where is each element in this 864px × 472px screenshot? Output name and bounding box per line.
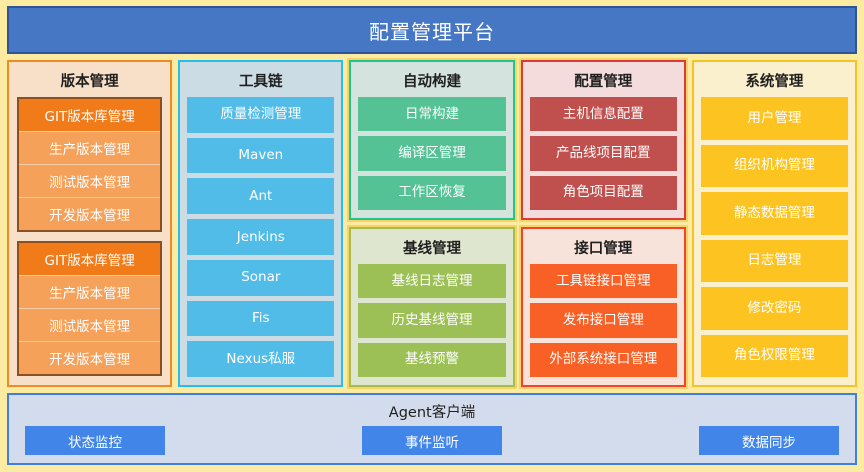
baseline-item-alert[interactable]: 基线预警 bbox=[358, 343, 505, 377]
panel-title-config-management: 配置管理 bbox=[530, 67, 677, 97]
baseline-item-log[interactable]: 基线日志管理 bbox=[358, 264, 505, 298]
version-item-git-repo-2[interactable]: GIT版本库管理 bbox=[19, 243, 160, 276]
platform-title-bar: 配置管理平台 bbox=[7, 6, 857, 54]
version-item-development-2[interactable]: 开发版本管理 bbox=[19, 342, 160, 374]
column-system-management: 系统管理 用户管理 组织机构管理 静态数据管理 日志管理 修改密码 角色权限管理 bbox=[692, 60, 857, 387]
config-item-role-project[interactable]: 角色项目配置 bbox=[530, 176, 677, 210]
page-title: 配置管理平台 bbox=[369, 16, 495, 45]
panel-title-baseline-management: 基线管理 bbox=[358, 234, 505, 264]
agent-button-event-listener[interactable]: 事件监听 bbox=[362, 426, 502, 455]
panel-auto-build: 自动构建 日常构建 编译区管理 工作区恢复 bbox=[349, 60, 514, 220]
column-config-interface: 配置管理 主机信息配置 产品线项目配置 角色项目配置 接口管理 工具链接口管理 … bbox=[521, 60, 686, 387]
panel-interface-management: 接口管理 工具链接口管理 发布接口管理 外部系统接口管理 bbox=[521, 227, 686, 387]
panel-baseline-management: 基线管理 基线日志管理 历史基线管理 基线预警 bbox=[349, 227, 514, 387]
build-item-daily-build[interactable]: 日常构建 bbox=[358, 97, 505, 131]
toolchain-item-sonar[interactable]: Sonar bbox=[187, 260, 334, 296]
panel-title-toolchain: 工具链 bbox=[187, 67, 334, 97]
agent-button-status-monitor[interactable]: 状态监控 bbox=[25, 426, 165, 455]
agent-button-data-sync[interactable]: 数据同步 bbox=[699, 426, 839, 455]
version-item-test-2[interactable]: 测试版本管理 bbox=[19, 309, 160, 342]
panel-title-version-management: 版本管理 bbox=[17, 67, 162, 97]
system-item-static-data-management[interactable]: 静态数据管理 bbox=[701, 192, 848, 235]
interface-item-external-system[interactable]: 外部系统接口管理 bbox=[530, 343, 677, 377]
toolchain-item-nexus[interactable]: Nexus私服 bbox=[187, 341, 334, 377]
toolchain-item-jenkins[interactable]: Jenkins bbox=[187, 219, 334, 255]
panel-title-system-management: 系统管理 bbox=[701, 67, 848, 97]
panel-config-management: 配置管理 主机信息配置 产品线项目配置 角色项目配置 bbox=[521, 60, 686, 220]
config-item-host-info[interactable]: 主机信息配置 bbox=[530, 97, 677, 131]
interface-item-toolchain[interactable]: 工具链接口管理 bbox=[530, 264, 677, 298]
column-toolchain: 工具链 质量检测管理 Maven Ant Jenkins Sonar Fis N… bbox=[178, 60, 343, 387]
system-item-role-permission-management[interactable]: 角色权限管理 bbox=[701, 335, 848, 378]
interface-item-release[interactable]: 发布接口管理 bbox=[530, 303, 677, 337]
version-group-2: GIT版本库管理 生产版本管理 测试版本管理 开发版本管理 bbox=[17, 241, 162, 376]
version-item-development-1[interactable]: 开发版本管理 bbox=[19, 198, 160, 230]
toolchain-item-quality-inspection[interactable]: 质量检测管理 bbox=[187, 97, 334, 133]
build-item-workspace-restore[interactable]: 工作区恢复 bbox=[358, 176, 505, 210]
column-version-management: 版本管理 GIT版本库管理 生产版本管理 测试版本管理 开发版本管理 GIT版本… bbox=[7, 60, 172, 387]
toolchain-item-fis[interactable]: Fis bbox=[187, 301, 334, 337]
version-item-git-repo-1[interactable]: GIT版本库管理 bbox=[19, 99, 160, 132]
baseline-item-history[interactable]: 历史基线管理 bbox=[358, 303, 505, 337]
agent-client-buttons: 状态监控 事件监听 数据同步 bbox=[17, 426, 847, 455]
version-item-production-1[interactable]: 生产版本管理 bbox=[19, 132, 160, 165]
platform-architecture-diagram: 配置管理平台 版本管理 GIT版本库管理 生产版本管理 测试版本管理 开发版本管… bbox=[0, 0, 864, 472]
version-item-production-2[interactable]: 生产版本管理 bbox=[19, 276, 160, 309]
config-item-product-line-project[interactable]: 产品线项目配置 bbox=[530, 136, 677, 170]
panel-title-interface-management: 接口管理 bbox=[530, 234, 677, 264]
system-item-log-management[interactable]: 日志管理 bbox=[701, 240, 848, 283]
agent-client-bar: Agent客户端 状态监控 事件监听 数据同步 bbox=[7, 393, 857, 465]
system-item-organization-management[interactable]: 组织机构管理 bbox=[701, 145, 848, 188]
system-item-user-management[interactable]: 用户管理 bbox=[701, 97, 848, 140]
system-item-change-password[interactable]: 修改密码 bbox=[701, 287, 848, 330]
panel-version-management: 版本管理 GIT版本库管理 生产版本管理 测试版本管理 开发版本管理 GIT版本… bbox=[7, 60, 172, 387]
module-columns: 版本管理 GIT版本库管理 生产版本管理 测试版本管理 开发版本管理 GIT版本… bbox=[7, 60, 857, 387]
toolchain-item-maven[interactable]: Maven bbox=[187, 138, 334, 174]
version-group-1: GIT版本库管理 生产版本管理 测试版本管理 开发版本管理 bbox=[17, 97, 162, 232]
version-item-test-1[interactable]: 测试版本管理 bbox=[19, 165, 160, 198]
panel-system-management: 系统管理 用户管理 组织机构管理 静态数据管理 日志管理 修改密码 角色权限管理 bbox=[692, 60, 857, 387]
agent-client-title: Agent客户端 bbox=[17, 399, 847, 426]
build-item-compile-area[interactable]: 编译区管理 bbox=[358, 136, 505, 170]
column-build-baseline: 自动构建 日常构建 编译区管理 工作区恢复 基线管理 基线日志管理 历史基线管理… bbox=[349, 60, 514, 387]
panel-title-auto-build: 自动构建 bbox=[358, 67, 505, 97]
panel-toolchain: 工具链 质量检测管理 Maven Ant Jenkins Sonar Fis N… bbox=[178, 60, 343, 387]
toolchain-item-ant[interactable]: Ant bbox=[187, 178, 334, 214]
